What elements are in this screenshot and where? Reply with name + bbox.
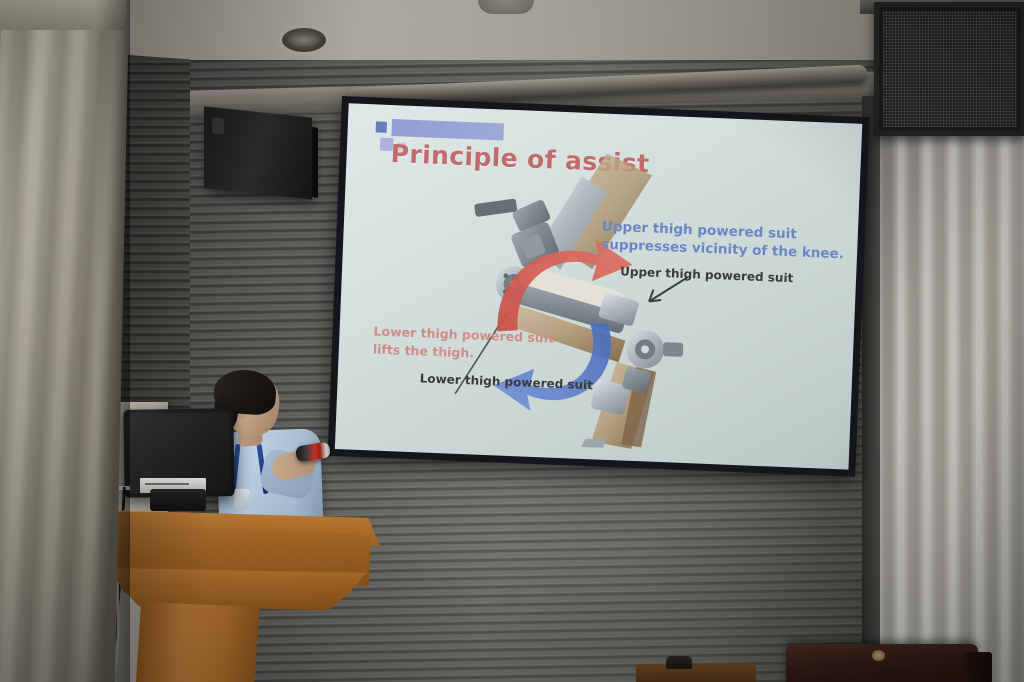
name-badge [233,488,250,508]
lectern-column [136,602,262,682]
projection-screen: Principle of assist [328,96,870,477]
hip-joint-bearing [625,330,683,370]
right-wall-grille-panel [874,2,1024,136]
annotation-red-line-2: lifts the thigh. [372,340,474,362]
chair-knob-icon [872,650,885,661]
ceiling-vent-icon [478,0,534,14]
right-pleated-curtain [872,124,1024,682]
slide-deco-square-icon [376,121,387,132]
exoskeleton-svg [445,142,707,452]
slide-deco-bar [391,119,504,140]
presentation-room-photo: Principle of assist [0,0,1024,682]
foreground-desk [636,664,756,682]
monitor-stand [150,489,206,511]
exoskeleton-diagram [445,142,707,452]
wall-speaker-icon [204,106,312,199]
screen-surface: Principle of assist [335,103,862,469]
left-curtain-shadow [96,0,130,682]
foreground-desk-object [666,656,692,669]
slide: Principle of assist [335,103,862,469]
foreground-chair-back [786,644,978,682]
ceiling-downlight-icon [282,28,326,52]
chair-side-post [962,652,992,682]
